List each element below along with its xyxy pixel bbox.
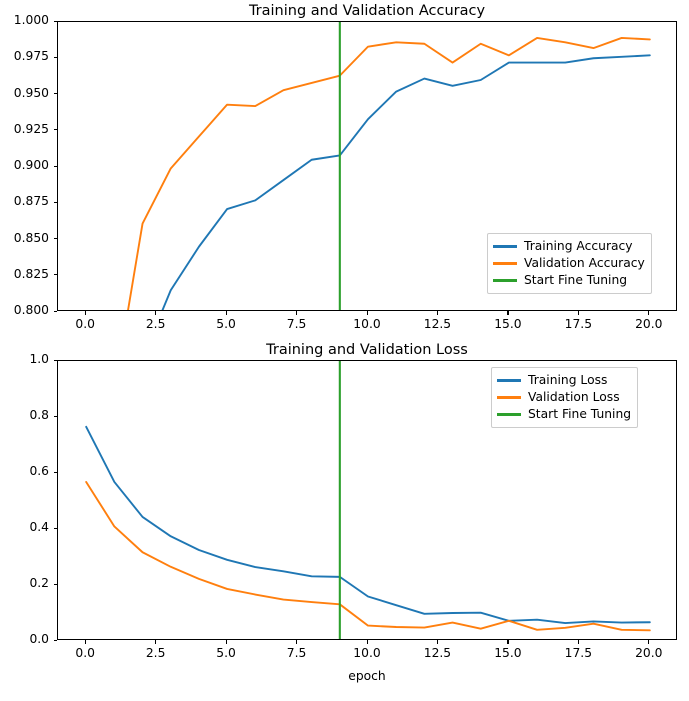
loss-y-tick-label: 0.4 (0, 520, 49, 534)
accuracy-x-tick-mark (507, 311, 508, 315)
loss-y-tick-mark (54, 584, 58, 585)
accuracy-legend-label: Validation Accuracy (524, 257, 645, 269)
accuracy-y-tick-label: 0.975 (0, 49, 49, 63)
accuracy-x-tick-label: 15.0 (478, 317, 538, 331)
loss-panel: Training and Validation Loss 0.00.20.40.… (0, 340, 689, 701)
accuracy-x-tick-mark (578, 311, 579, 315)
loss-x-tick-mark (155, 640, 156, 644)
accuracy-y-tick-mark (54, 93, 58, 94)
accuracy-legend: Training AccuracyValidation AccuracyStar… (487, 233, 652, 294)
loss-x-tick-label: 10.0 (337, 646, 397, 660)
loss-x-tick-label: 17.5 (548, 646, 608, 660)
loss-legend-label: Validation Loss (528, 391, 620, 403)
loss-x-tick-mark (578, 640, 579, 644)
accuracy-y-tick-label: 0.950 (0, 86, 49, 100)
accuracy-chart-title: Training and Validation Accuracy (57, 3, 677, 19)
accuracy-y-tick-mark (54, 274, 58, 275)
legend-line-swatch-icon (493, 262, 517, 264)
accuracy-legend-item[interactable]: Start Fine Tuning (493, 272, 645, 289)
loss-x-tick-mark (507, 640, 508, 644)
loss-x-tick-label: 5.0 (196, 646, 256, 660)
loss-y-tick-mark (54, 472, 58, 473)
loss-legend-item[interactable]: Start Fine Tuning (497, 406, 631, 423)
loss-y-tick-mark (54, 416, 58, 417)
loss-y-tick-mark (54, 640, 58, 641)
loss-x-axis-label: epoch (57, 669, 677, 683)
accuracy-y-tick-label: 0.875 (0, 194, 49, 208)
loss-y-tick-label: 1.0 (0, 352, 49, 366)
accuracy-x-tick-mark (226, 311, 227, 315)
loss-x-tick-label: 12.5 (407, 646, 467, 660)
accuracy-y-tick-mark (54, 21, 58, 22)
accuracy-panel: Training and Validation Accuracy 0.8000.… (0, 0, 689, 350)
loss-series-1 (86, 482, 650, 630)
loss-x-tick-label: 7.5 (267, 646, 327, 660)
accuracy-x-tick-label: 0.0 (55, 317, 115, 331)
accuracy-legend-label: Training Accuracy (524, 240, 633, 252)
accuracy-legend-item[interactable]: Validation Accuracy (493, 255, 645, 272)
loss-series-0 (86, 427, 650, 623)
loss-y-tick-label: 0.6 (0, 464, 49, 478)
accuracy-y-tick-label: 0.850 (0, 231, 49, 245)
accuracy-y-tick-mark (54, 57, 58, 58)
loss-x-tick-mark (226, 640, 227, 644)
loss-x-tick-label: 2.5 (126, 646, 186, 660)
loss-legend-item[interactable]: Training Loss (497, 372, 631, 389)
accuracy-y-tick-label: 1.000 (0, 13, 49, 27)
loss-x-tick-mark (296, 640, 297, 644)
accuracy-x-tick-mark (437, 311, 438, 315)
accuracy-x-tick-mark (648, 311, 649, 315)
loss-y-tick-mark (54, 528, 58, 529)
loss-legend: Training LossValidation LossStart Fine T… (491, 367, 638, 428)
accuracy-x-tick-label: 5.0 (196, 317, 256, 331)
loss-x-tick-label: 15.0 (478, 646, 538, 660)
loss-y-tick-label: 0.8 (0, 408, 49, 422)
accuracy-x-tick-mark (85, 311, 86, 315)
accuracy-y-tick-label: 0.900 (0, 158, 49, 172)
legend-line-swatch-icon (497, 379, 521, 381)
accuracy-x-tick-label: 10.0 (337, 317, 397, 331)
loss-x-tick-mark (367, 640, 368, 644)
accuracy-x-tick-label: 17.5 (548, 317, 608, 331)
loss-y-tick-mark (54, 360, 58, 361)
accuracy-legend-label: Start Fine Tuning (524, 274, 627, 286)
loss-y-tick-label: 0.0 (0, 632, 49, 646)
accuracy-x-tick-label: 7.5 (267, 317, 327, 331)
loss-x-tick-mark (648, 640, 649, 644)
accuracy-x-tick-mark (155, 311, 156, 315)
accuracy-y-tick-mark (54, 311, 58, 312)
loss-legend-item[interactable]: Validation Loss (497, 389, 631, 406)
accuracy-x-tick-label: 2.5 (126, 317, 186, 331)
accuracy-x-tick-mark (296, 311, 297, 315)
loss-x-tick-mark (437, 640, 438, 644)
legend-line-swatch-icon (497, 396, 521, 398)
legend-line-swatch-icon (493, 245, 517, 247)
accuracy-x-tick-label: 20.0 (619, 317, 679, 331)
loss-chart-title: Training and Validation Loss (57, 342, 677, 358)
loss-x-tick-label: 0.0 (55, 646, 115, 660)
accuracy-y-tick-mark (54, 202, 58, 203)
accuracy-y-tick-label: 0.825 (0, 267, 49, 281)
legend-line-swatch-icon (497, 413, 521, 415)
accuracy-y-tick-mark (54, 129, 58, 130)
accuracy-x-tick-label: 12.5 (407, 317, 467, 331)
accuracy-legend-item[interactable]: Training Accuracy (493, 238, 645, 255)
accuracy-x-tick-mark (367, 311, 368, 315)
loss-x-tick-mark (85, 640, 86, 644)
loss-x-tick-label: 20.0 (619, 646, 679, 660)
loss-legend-label: Training Loss (528, 374, 607, 386)
accuracy-y-tick-mark (54, 166, 58, 167)
accuracy-y-tick-mark (54, 238, 58, 239)
matplotlib-figure: Training and Validation Accuracy 0.8000.… (0, 0, 689, 701)
accuracy-y-tick-label: 0.925 (0, 122, 49, 136)
loss-legend-label: Start Fine Tuning (528, 408, 631, 420)
loss-y-tick-label: 0.2 (0, 576, 49, 590)
accuracy-y-tick-label: 0.800 (0, 303, 49, 317)
legend-line-swatch-icon (493, 279, 517, 281)
